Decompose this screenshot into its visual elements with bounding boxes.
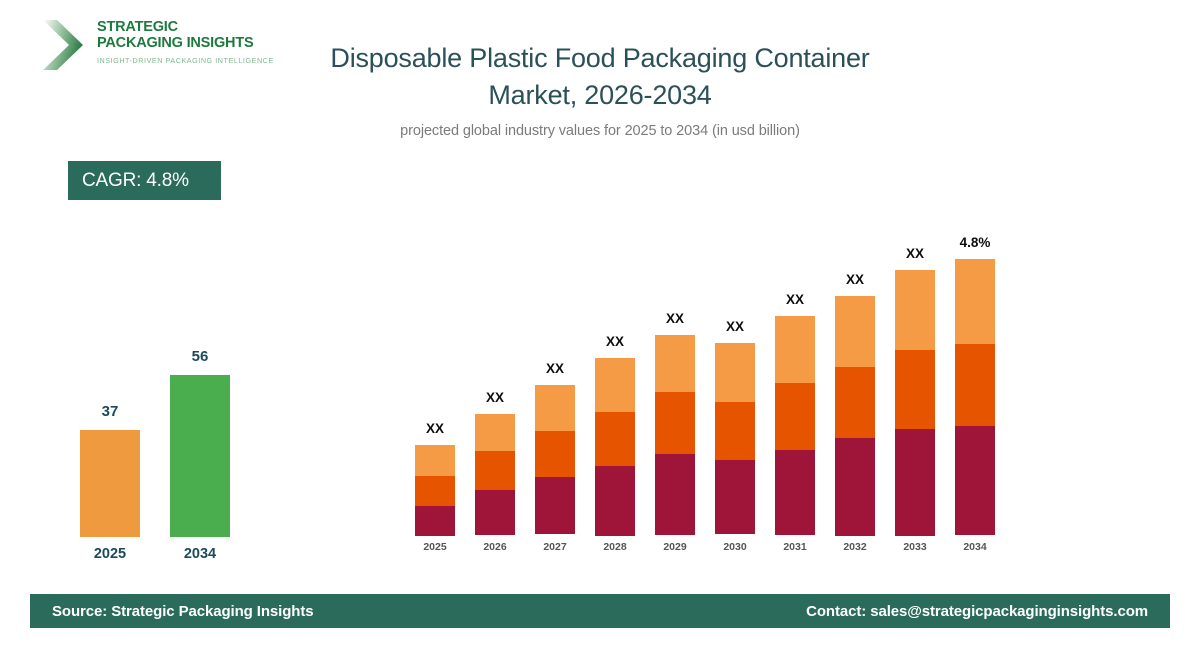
stacked-bar-value: XX [517,361,593,376]
stacked-bar-segment-middle [535,431,575,477]
stacked-bar-segment-bottom [595,466,635,536]
stacked-bar-value: XX [757,292,833,307]
stacked-bar-segment-bottom [955,426,995,535]
stacked-bar-segment-bottom [535,477,575,534]
stacked-bar-value: 4.8% [937,235,1013,250]
stacked-bar-value: XX [697,319,773,334]
stacked-bar [835,296,875,535]
footer-bar: Source: Strategic Packaging Insights Con… [30,594,1170,628]
footer-contact[interactable]: Contact: sales@strategicpackaginginsight… [806,603,1148,620]
stacked-bar-segment-top [595,358,635,412]
stacked-bar-category: 2027 [523,541,587,553]
stacked-bar-segment-bottom [775,450,815,535]
stacked-bar-value: XX [397,421,473,436]
comparison-bar [170,375,230,537]
stacked-bar-category: 2030 [703,541,767,553]
stacked-bar-category: 2025 [403,541,467,553]
stacked-bar-segment-top [835,296,875,367]
stacked-bar [895,270,935,535]
stacked-bar [535,385,575,535]
stacked-bar-segment-middle [895,350,935,429]
stacked-bar-segment-top [775,316,815,383]
stacked-bar-segment-middle [715,402,755,460]
stacked-bar-category: 2029 [643,541,707,553]
stacked-bar-segment-middle [955,344,995,426]
stacked-bar-segment-middle [475,451,515,490]
stacked-bar [655,335,695,535]
stacked-bar-category: 2032 [823,541,887,553]
stacked-bar-segment-bottom [475,490,515,535]
stacked-bar [955,259,995,535]
stacked-bar-segment-middle [415,476,455,506]
stacked-bar-segment-top [895,270,935,350]
stacked-bar-segment-middle [595,412,635,466]
footer-source: Source: Strategic Packaging Insights [52,603,313,620]
stacked-bar-segment-bottom [655,454,695,535]
stacked-bar-category: 2026 [463,541,527,553]
stacked-bar-segment-bottom [835,438,875,536]
stacked-bar-segment-middle [775,383,815,450]
stacked-bar-value: XX [817,272,893,287]
stacked-bar-value: XX [577,334,653,349]
stacked-bar-segment-middle [835,367,875,438]
stacked-bar-segment-top [415,445,455,476]
stacked-bar-value: XX [457,390,533,405]
stacked-bar-category: 2028 [583,541,647,553]
stacked-bar [775,316,815,535]
comparison-bar-value: 37 [80,403,140,420]
comparison-bar-category: 2034 [160,546,240,562]
stacked-bar-category: 2031 [763,541,827,553]
stacked-bar-segment-top [715,343,755,402]
comparison-bar-category: 2025 [70,546,150,562]
stacked-bar [715,343,755,535]
stacked-bar-segment-top [535,385,575,431]
stacked-bar-segment-bottom [415,506,455,536]
chart-area: 372025562034 XX2025XX2026XX2027XX2028XX2… [0,0,1200,650]
stacked-bar-segment-bottom [895,429,935,536]
comparison-bar [80,430,140,537]
stacked-bar [415,445,455,535]
stacked-bar-segment-middle [655,392,695,454]
stacked-bar-segment-top [655,335,695,392]
comparison-bar-value: 56 [170,348,230,365]
stacked-bar-category: 2034 [943,541,1007,553]
stacked-bar-segment-top [955,259,995,344]
stacked-bar [475,414,515,535]
stacked-bar-segment-top [475,414,515,451]
stacked-bar [595,358,635,535]
stacked-bar-category: 2033 [883,541,947,553]
stacked-bar-segment-bottom [715,460,755,534]
